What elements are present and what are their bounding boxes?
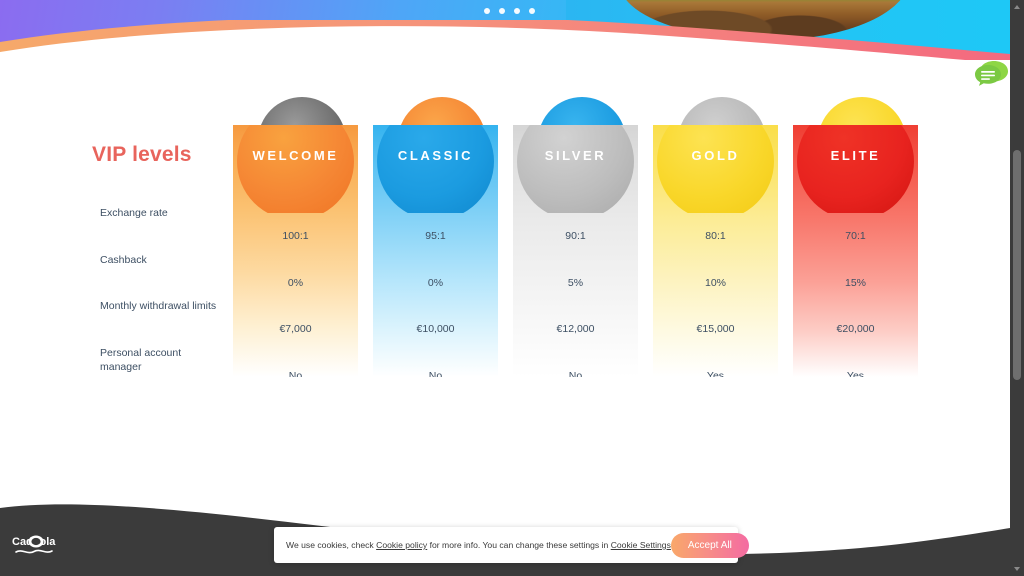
chat-bubble-icon[interactable] xyxy=(972,56,1012,96)
tier-values: 90:1 5% €12,000 No xyxy=(513,220,638,377)
accept-all-button[interactable]: Accept All xyxy=(671,533,749,558)
cookie-message: We use cookies, check Cookie policy for … xyxy=(286,540,671,550)
tier-name: CLASSIC xyxy=(373,125,498,185)
tier-card-elite[interactable]: ELITE 70:1 15% €20,000 Yes xyxy=(793,97,933,382)
carousel-dot[interactable] xyxy=(499,8,505,14)
tier-values: 100:1 0% €7,000 No xyxy=(233,220,358,377)
tier-name: SILVER xyxy=(513,125,638,185)
tier-value: 90:1 xyxy=(513,220,638,267)
page-title: VIP levels xyxy=(92,143,192,167)
tier-card-body: ELITE 70:1 15% €20,000 Yes xyxy=(793,125,918,377)
tier-value: 10% xyxy=(653,267,778,314)
carousel-dot[interactable] xyxy=(484,8,490,14)
page-root: VIP levels Exchange rate Cashback Monthl… xyxy=(0,0,1024,576)
tier-value: No xyxy=(373,360,498,378)
tier-value: No xyxy=(233,360,358,378)
site-logo[interactable]: Cadoola xyxy=(12,532,64,558)
tier-value: Yes xyxy=(653,360,778,378)
tier-name: WELCOME xyxy=(233,125,358,185)
scrollbar-thumb[interactable] xyxy=(1013,150,1021,380)
row-labels: Exchange rate Cashback Monthly withdrawa… xyxy=(100,206,225,392)
tier-value: €20,000 xyxy=(793,313,918,360)
tier-value: 5% xyxy=(513,267,638,314)
tier-card-body: GOLD 80:1 10% €15,000 Yes xyxy=(653,125,778,377)
tier-card-body: SILVER 90:1 5% €12,000 No xyxy=(513,125,638,377)
cookie-text-middle: for more info. You can change these sett… xyxy=(427,540,610,550)
tier-values: 95:1 0% €10,000 No xyxy=(373,220,498,377)
tier-card-body: WELCOME 100:1 0% €7,000 No xyxy=(233,125,358,377)
tier-value: 0% xyxy=(373,267,498,314)
scroll-down-arrow-icon[interactable] xyxy=(1014,567,1020,571)
row-label: Cashback xyxy=(100,253,225,300)
carousel-dot[interactable] xyxy=(514,8,520,14)
tier-name: ELITE xyxy=(793,125,918,185)
page-scrollbar[interactable] xyxy=(1010,0,1024,576)
tier-card-silver[interactable]: SILVER 90:1 5% €12,000 No xyxy=(513,97,653,382)
tier-value: No xyxy=(513,360,638,378)
scroll-up-arrow-icon[interactable] xyxy=(1014,5,1020,9)
tier-value: 95:1 xyxy=(373,220,498,267)
hero-wave-divider xyxy=(0,20,1010,60)
tier-value: €12,000 xyxy=(513,313,638,360)
carousel-dots[interactable] xyxy=(484,8,535,14)
tier-card-gold[interactable]: GOLD 80:1 10% €15,000 Yes xyxy=(653,97,793,382)
chat-widget-button[interactable] xyxy=(972,56,1012,96)
tier-value: 80:1 xyxy=(653,220,778,267)
cookie-settings-link[interactable]: Cookie Settings xyxy=(611,540,671,550)
row-label: Personal account manager xyxy=(100,346,225,393)
vip-tier-cards: WELCOME 100:1 0% €7,000 No CLASSIC 95:1 xyxy=(233,97,933,382)
tier-value: 70:1 xyxy=(793,220,918,267)
tier-card-classic[interactable]: CLASSIC 95:1 0% €10,000 No xyxy=(373,97,513,382)
tier-value: Yes xyxy=(793,360,918,378)
cadoola-logo-icon[interactable]: Cadoola xyxy=(12,532,64,558)
hero-banner xyxy=(0,0,1010,60)
tier-name: GOLD xyxy=(653,125,778,185)
tier-value: €15,000 xyxy=(653,313,778,360)
tier-value: €7,000 xyxy=(233,313,358,360)
carousel-dot[interactable] xyxy=(529,8,535,14)
tier-value: €10,000 xyxy=(373,313,498,360)
tier-value: 100:1 xyxy=(233,220,358,267)
tier-values: 70:1 15% €20,000 Yes xyxy=(793,220,918,377)
row-label: Exchange rate xyxy=(100,206,225,253)
tier-value: 0% xyxy=(233,267,358,314)
cookie-text-before: We use cookies, check xyxy=(286,540,376,550)
tier-value: 15% xyxy=(793,267,918,314)
tier-card-welcome[interactable]: WELCOME 100:1 0% €7,000 No xyxy=(233,97,373,382)
tier-card-body: CLASSIC 95:1 0% €10,000 No xyxy=(373,125,498,377)
cookie-policy-link[interactable]: Cookie policy xyxy=(376,540,427,550)
tier-values: 80:1 10% €15,000 Yes xyxy=(653,220,778,377)
row-label: Monthly withdrawal limits xyxy=(100,299,225,346)
cookie-consent-banner: We use cookies, check Cookie policy for … xyxy=(274,527,738,563)
